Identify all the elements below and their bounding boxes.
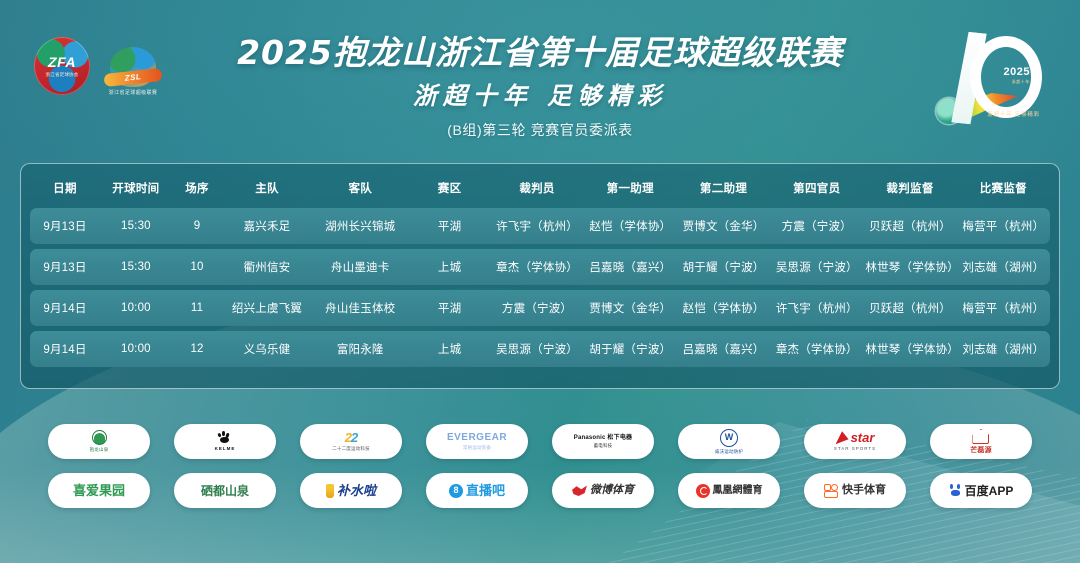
sponsor-baiduapp[interactable]: 百度APP (930, 473, 1032, 508)
eight-icon: 8 (449, 484, 463, 498)
sponsor-kelme[interactable]: KELME (174, 424, 276, 459)
sponsor-label: 补水啦 (337, 484, 376, 497)
column-header-zone: 赛区 (409, 175, 491, 203)
column-header-away-team: 客队 (312, 175, 409, 203)
cell-date: 9月13日 (30, 249, 100, 285)
cell-fourth-official: 方震（宁波） (770, 208, 863, 244)
table-row: 9月13日 15:30 10 衢州信安 舟山墨迪卡 上城 章杰（学体协） 吕嘉晓… (30, 249, 1050, 285)
sponsor-mangsuyuan[interactable]: 芒磊源 (930, 424, 1032, 459)
column-header-assistant-1: 第一助理 (584, 175, 677, 203)
zfa-logo-icon: ZFA 浙江省足球协会 (34, 37, 90, 95)
cell-home-team: 绍兴上虞飞翼 (222, 290, 311, 326)
column-header-fourth-official: 第四官员 (770, 175, 863, 203)
table-row: 9月13日 15:30 9 嘉兴禾足 湖州长兴锦城 平湖 许飞宇（杭州） 赵恺（… (30, 208, 1050, 244)
sponsor-label: 喜爱果园 (73, 484, 125, 497)
sponsor-shidushanquan[interactable]: 硒都山泉 (174, 473, 276, 508)
cell-referee: 章杰（学体协） (490, 249, 583, 285)
sponsor-label: star (851, 431, 875, 444)
zsl-logo-icon: ZSL 浙江省足球超级联赛 (102, 36, 164, 96)
sponsor-22[interactable]: 22 二十二度运动科技 (300, 424, 402, 459)
cell-referee-supervisor: 贝跃超（杭州） (863, 290, 956, 326)
column-header-referee: 裁判员 (490, 175, 583, 203)
sponsor-label: 二十二度运动科技 (332, 447, 370, 452)
sponsor-label: 芒磊源 (970, 447, 992, 454)
left-logo-group: ZFA 浙江省足球协会 ZSL 浙江省足球超级联赛 (34, 36, 164, 96)
sponsor-label: EVERGEAR (447, 433, 507, 443)
kuaishou-icon (824, 484, 839, 497)
cell-assistant-2: 赵恺（学体协） (677, 290, 770, 326)
phoenix-icon (696, 484, 710, 498)
column-header-referee-supervisor: 裁判监督 (863, 175, 956, 203)
column-header-date: 日期 (30, 175, 100, 203)
cell-assistant-2: 胡于耀（宁波） (677, 249, 770, 285)
assignment-table-panel: 日期 开球时间 场序 主队 客队 赛区 裁判员 第一助理 第二助理 第四官员 裁… (20, 163, 1060, 389)
cell-zone: 上城 (409, 249, 491, 285)
cell-match-no: 11 (172, 290, 223, 326)
cell-match-no: 10 (172, 249, 223, 285)
cell-date: 9月13日 (30, 208, 100, 244)
cell-away-team: 舟山佳玉体校 (312, 290, 409, 326)
zfa-logo-subtext: 浙江省足球协会 (46, 72, 79, 77)
sponsor-area: 抱龙山泉 KELME 22 二十二度运动科技 EVE (0, 424, 1080, 522)
cell-assistant-1: 胡于耀（宁波） (584, 331, 677, 367)
sponsor-sublabel: 蓄电科技 (594, 444, 613, 449)
sponsor-row-2: 喜爱果园 硒都山泉 补水啦 8 直播吧 (0, 473, 1080, 508)
cell-referee-supervisor: 林世琴（学体协） (863, 249, 956, 285)
sponsor-ifengsports[interactable]: 鳳凰網體育 (678, 473, 780, 508)
document-title: (B组)第三轮 竞赛官员委派表 (0, 123, 1080, 137)
sponsor-bushuila[interactable]: 补水啦 (300, 473, 402, 508)
cell-assistant-1: 贾博文（金华） (584, 290, 677, 326)
paw-icon (218, 431, 233, 444)
cell-home-team: 衢州信安 (222, 249, 311, 285)
cell-assistant-1: 赵恺（学体协） (584, 208, 677, 244)
cell-match-no: 12 (172, 331, 223, 367)
cell-fourth-official: 章杰（学体协） (770, 331, 863, 367)
sponsor-label: 微博体育 (590, 485, 634, 496)
cell-home-team: 嘉兴禾足 (222, 208, 311, 244)
cell-match-supervisor: 刘志雄（湖州） (957, 331, 1050, 367)
cell-assistant-2: 贾博文（金华） (677, 208, 770, 244)
sponsor-sublabel: 常格运动装备 (463, 446, 491, 451)
cell-date: 9月14日 (30, 290, 100, 326)
cell-fourth-official: 许飞宇（杭州） (770, 290, 863, 326)
anniversary-year-sub: 浙超十年 (1012, 79, 1030, 85)
cell-away-team: 舟山墨迪卡 (312, 249, 409, 285)
sponsor-label: 鳳凰網體育 (713, 486, 763, 496)
sponsor-sublabel: STAR SPORTS (834, 447, 876, 452)
cell-referee: 方震（宁波） (490, 290, 583, 326)
anniversary-year: 2025 (1004, 66, 1030, 78)
cell-time: 15:30 (100, 208, 172, 244)
anniversary-caption: 浙超十年 足够精彩 (987, 110, 1040, 118)
cell-time: 10:00 (100, 331, 172, 367)
sponsor-label: 百度APP (965, 485, 1014, 497)
cell-referee: 许飞宇（杭州） (490, 208, 583, 244)
cell-date: 9月14日 (30, 331, 100, 367)
weibo-icon (572, 485, 587, 497)
cell-match-supervisor: 梅营平（杭州） (957, 290, 1050, 326)
table-row: 9月14日 10:00 11 绍兴上虞飞翼 舟山佳玉体校 平湖 方震（宁波） 贾… (30, 290, 1050, 326)
sponsor-label: 快手体育 (842, 485, 886, 496)
sponsor-baolongshan[interactable]: 抱龙山泉 (48, 424, 150, 459)
cell-away-team: 湖州长兴锦城 (312, 208, 409, 244)
sponsor-row-1: 抱龙山泉 KELME 22 二十二度运动科技 EVE (0, 424, 1080, 459)
sponsor-label: 抱龙山泉 (90, 448, 109, 453)
sponsor-label: Panasonic 松下电器 (574, 435, 632, 441)
house-icon (972, 429, 989, 444)
bottle-icon (326, 484, 334, 498)
sponsor-label: 威沃运动防护 (715, 450, 743, 455)
column-header-assistant-2: 第二助理 (677, 175, 770, 203)
star-icon (836, 431, 849, 444)
poster-canvas: ZFA 浙江省足球协会 ZSL 浙江省足球超级联赛 2025抱龙山浙江省第十届足… (0, 0, 1080, 563)
cell-referee-supervisor: 林世琴（学体协） (863, 331, 956, 367)
cell-zone: 平湖 (409, 208, 491, 244)
sponsor-xiaiguoyuan[interactable]: 喜爱果园 (48, 473, 150, 508)
poster-header: ZFA 浙江省足球协会 ZSL 浙江省足球超级联赛 2025抱龙山浙江省第十届足… (0, 0, 1080, 155)
sponsor-weiwo[interactable]: W 威沃运动防护 (678, 424, 780, 459)
cell-assistant-2: 吕嘉晓（嘉兴） (677, 331, 770, 367)
sponsor-evergear[interactable]: EVERGEAR 常格运动装备 (426, 424, 528, 459)
column-header-kickoff-time: 开球时间 (100, 175, 172, 203)
zsl-logo-subtext: 浙江省足球超级联赛 (109, 89, 158, 96)
anniversary-logo-icon: 2025 浙超十年 浙超十年 足够精彩 (934, 26, 1052, 134)
baidu-icon (949, 484, 962, 497)
column-header-match-no: 场序 (172, 175, 223, 203)
cell-zone: 平湖 (409, 290, 491, 326)
cell-match-no: 9 (172, 208, 223, 244)
table-header-row: 日期 开球时间 场序 主队 客队 赛区 裁判员 第一助理 第二助理 第四官员 裁… (30, 175, 1050, 203)
column-header-match-supervisor: 比赛监督 (957, 175, 1050, 203)
cell-zone: 上城 (409, 331, 491, 367)
sponsor-label: 直播吧 (466, 484, 505, 497)
cell-match-supervisor: 梅营平（杭州） (957, 208, 1050, 244)
cell-assistant-1: 吕嘉晓（嘉兴） (584, 249, 677, 285)
cell-fourth-official: 吴思源（宁波） (770, 249, 863, 285)
sponsor-star[interactable]: star STAR SPORTS (804, 424, 906, 459)
zfa-logo-text: ZFA (48, 55, 76, 69)
cell-time: 15:30 (100, 249, 172, 285)
twentytwo-icon: 22 (345, 431, 357, 444)
cell-time: 10:00 (100, 290, 172, 326)
sponsor-zhiboba[interactable]: 8 直播吧 (426, 473, 528, 508)
table-row: 9月14日 10:00 12 义乌乐健 富阳永隆 上城 吴思源（宁波） 胡于耀（… (30, 331, 1050, 367)
column-header-home-team: 主队 (222, 175, 311, 203)
w-circle-icon: W (720, 429, 738, 447)
tree-icon (92, 430, 107, 445)
sponsor-label: KELME (215, 447, 236, 452)
sponsor-panasonic[interactable]: Panasonic 松下电器 蓄电科技 (552, 424, 654, 459)
sponsor-label: 硒都山泉 (201, 485, 249, 497)
sponsor-weibosports[interactable]: 微博体育 (552, 473, 654, 508)
cell-away-team: 富阳永隆 (312, 331, 409, 367)
assignment-table: 日期 开球时间 场序 主队 客队 赛区 裁判员 第一助理 第二助理 第四官员 裁… (30, 170, 1050, 372)
cell-home-team: 义乌乐健 (222, 331, 311, 367)
cell-match-supervisor: 刘志雄（湖州） (957, 249, 1050, 285)
cell-referee: 吴思源（宁波） (490, 331, 583, 367)
sponsor-kuaishousports[interactable]: 快手体育 (804, 473, 906, 508)
cell-referee-supervisor: 贝跃超（杭州） (863, 208, 956, 244)
